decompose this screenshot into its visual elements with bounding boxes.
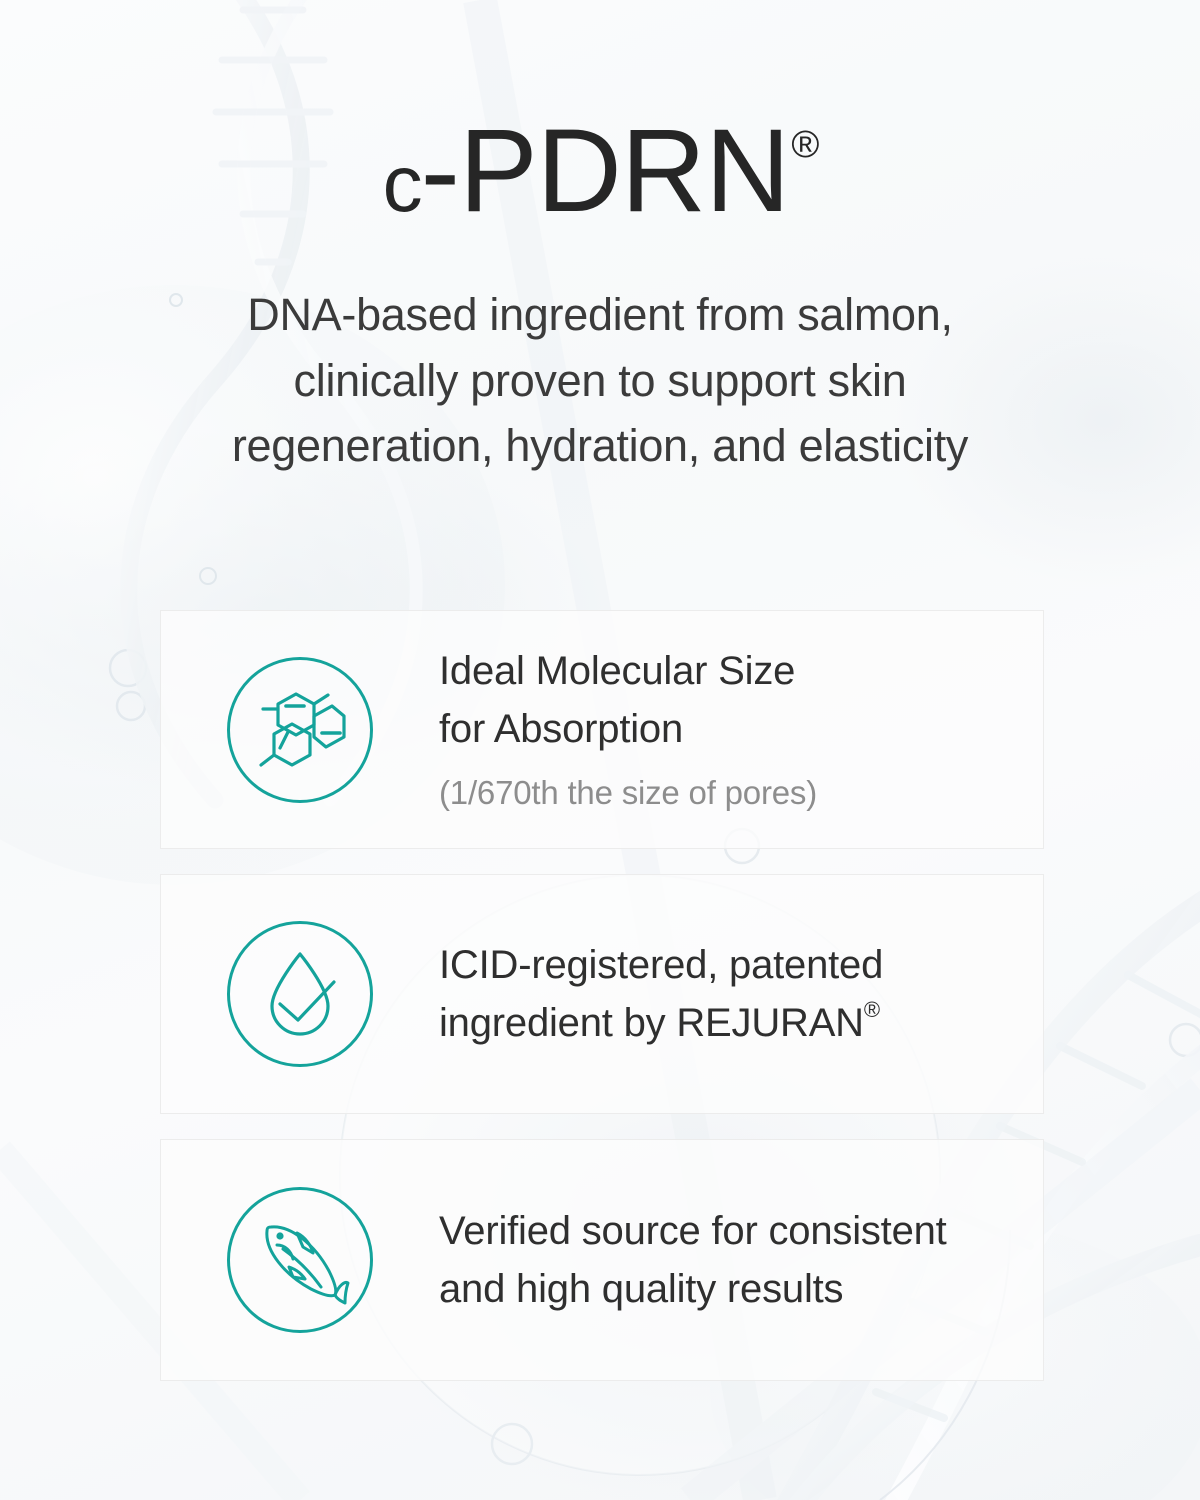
feature-card: Ideal Molecular Size for Absorption (1/6…: [160, 610, 1044, 849]
feature-card-title-line-2: for Absorption: [439, 700, 817, 758]
feature-card: ICID-registered, patented ingredient by …: [160, 874, 1044, 1114]
droplet-check-icon-badge: [227, 921, 373, 1067]
subtitle-line-1: DNA-based ingredient from salmon,: [0, 282, 1200, 348]
registered-trademark-icon: ®: [864, 997, 880, 1022]
header: c-PDRN® DNA-based ingredient from salmon…: [0, 0, 1200, 479]
subtitle-line-3: regeneration, hydration, and elasticity: [0, 413, 1200, 479]
feature-card-title-line-2: and high quality results: [439, 1260, 947, 1318]
feature-card-title-line-2: ingredient by REJURAN®: [439, 994, 883, 1052]
feature-card-title: Ideal Molecular Size for Absorption: [439, 642, 817, 758]
feature-card-title: ICID-registered, patented ingredient by …: [439, 936, 883, 1052]
registered-trademark-icon: ®: [791, 124, 819, 166]
feature-card-title-line-1: Verified source for consistent: [439, 1202, 947, 1260]
feature-card-title-line-1: Ideal Molecular Size: [439, 642, 817, 700]
feature-card-title-line-1: ICID-registered, patented: [439, 936, 883, 994]
feature-card-subtext: (1/670th the size of pores): [439, 758, 817, 818]
feature-card-text: Verified source for consistent and high …: [373, 1202, 967, 1318]
brand-name: -PDRN: [421, 105, 790, 237]
feature-card-text: ICID-registered, patented ingredient by …: [373, 936, 903, 1052]
page-content: c-PDRN® DNA-based ingredient from salmon…: [0, 0, 1200, 1500]
molecule-icon: [248, 678, 352, 782]
molecule-icon-badge: [227, 657, 373, 803]
feature-card-title: Verified source for consistent and high …: [439, 1202, 947, 1318]
feature-card-list: Ideal Molecular Size for Absorption (1/6…: [160, 610, 1044, 1381]
subtitle-line-2: clinically proven to support skin: [0, 348, 1200, 414]
fish-icon-badge: [227, 1187, 373, 1333]
page-subtitle: DNA-based ingredient from salmon, clinic…: [0, 230, 1200, 479]
feature-card-title-line-2-text: ingredient by REJURAN: [439, 1001, 864, 1045]
page-title: c-PDRN®: [0, 0, 1200, 230]
fish-icon: [249, 1209, 351, 1311]
feature-card-text: Ideal Molecular Size for Absorption (1/6…: [373, 642, 837, 818]
feature-card: Verified source for consistent and high …: [160, 1139, 1044, 1381]
droplet-check-icon: [250, 944, 350, 1044]
brand-prefix: c: [383, 139, 421, 228]
